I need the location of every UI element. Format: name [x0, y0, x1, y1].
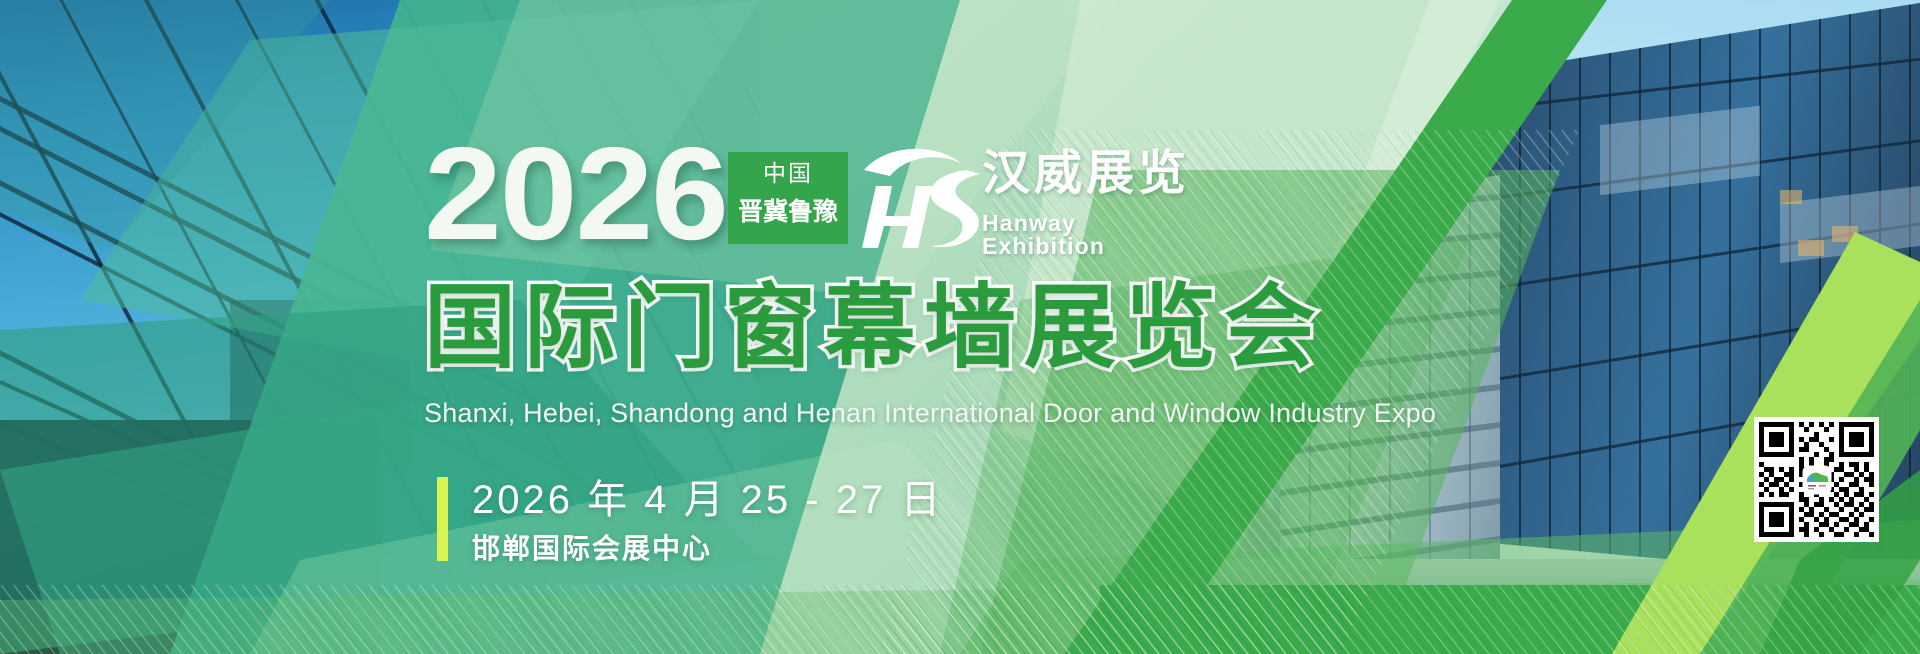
organizer-name-en: Hanway Exhibition [982, 212, 1192, 258]
banner-content: 2026 中国 晋冀鲁豫 汉威展览 Hanway Exhibition 国际门窗… [0, 0, 1920, 654]
accent-bar [437, 477, 448, 561]
hs-swoosh-icon [862, 146, 987, 250]
region-country: 中国 [728, 162, 848, 185]
region-badge: 中国 晋冀鲁豫 [728, 152, 848, 244]
expo-date: 2026 年 4 月 25 - 27 日 [472, 480, 943, 520]
organizer-name-cn: 汉威展览 [982, 150, 1190, 198]
year-label: 2026 [424, 128, 727, 260]
expo-title-cn: 国际门窗幕墙展览会 [424, 282, 1324, 374]
region-provinces: 晋冀鲁豫 [728, 200, 848, 225]
organizer-logo: 汉威展览 Hanway Exhibition [862, 146, 1192, 256]
expo-title-en: Shanxi, Hebei, Shandong and Henan Intern… [424, 400, 1436, 427]
qr-code[interactable] [1754, 417, 1879, 542]
exhibition-banner: 2026 中国 晋冀鲁豫 汉威展览 Hanway Exhibition 国际门窗… [0, 0, 1920, 654]
expo-venue: 邯郸国际会展中心 [472, 535, 712, 563]
qr-center-logo [1804, 467, 1830, 493]
